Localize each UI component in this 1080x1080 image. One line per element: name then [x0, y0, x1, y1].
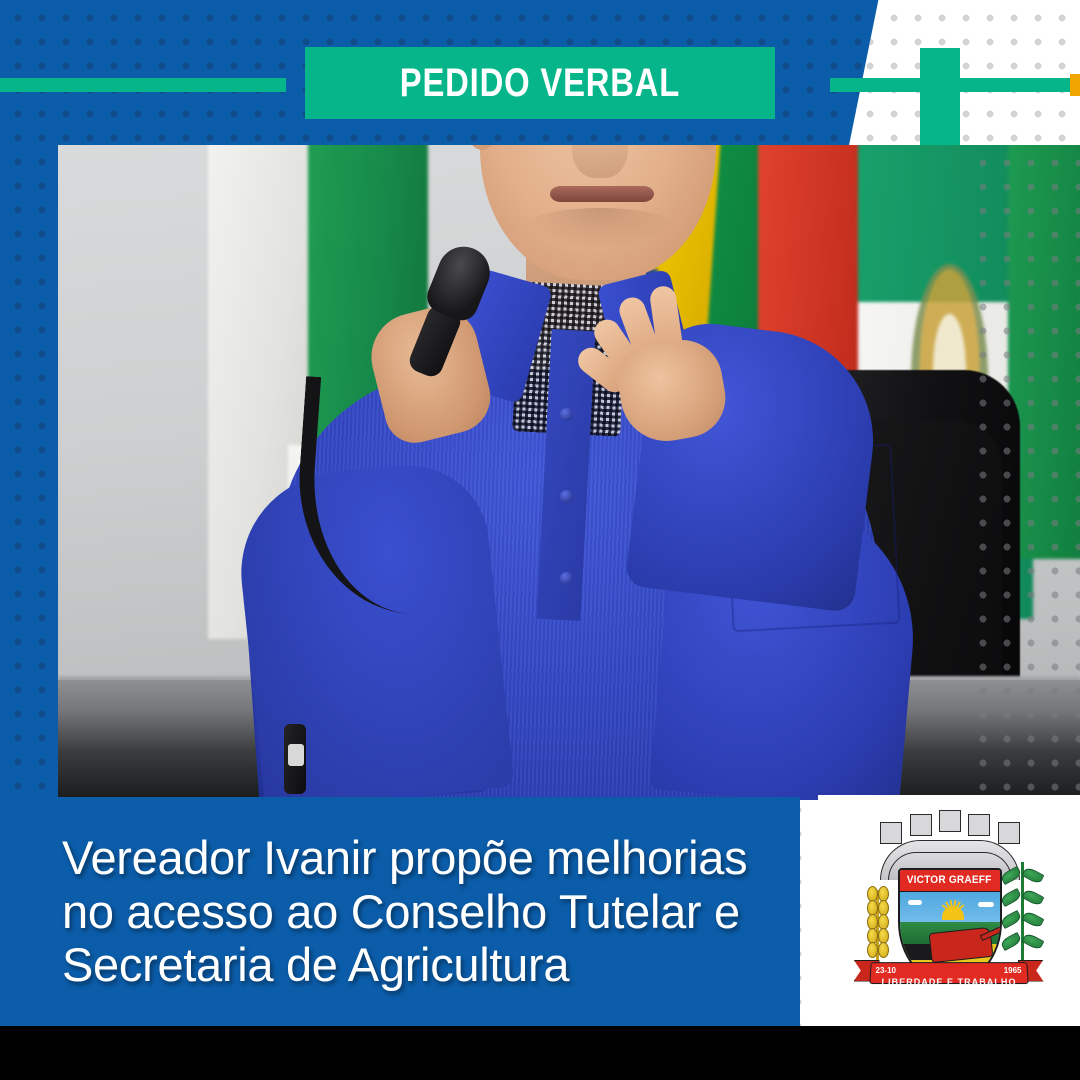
- caption-line-1: Vereador Ivanir propõe melhorias: [62, 831, 747, 885]
- microphone-base-ring: [288, 744, 304, 766]
- crest-merlon-5: [998, 822, 1020, 844]
- yellow-accent-cap: [1070, 74, 1080, 96]
- ribbon-date-label: 23-10: [876, 966, 896, 975]
- crest-merlon-2: [910, 814, 932, 836]
- caption-bar: Vereador Ivanir propõe melhorias no aces…: [0, 797, 800, 1026]
- photo-content: CÂMARA DE VEREADORES VICTOR GRAEFF - RS: [58, 145, 1080, 800]
- crest-merlon-3: [939, 810, 961, 832]
- crest-merlon-4: [968, 814, 990, 836]
- crest-crown-wall: [880, 822, 1020, 868]
- crest-name-label: VICTOR GRAEFF: [907, 874, 992, 886]
- photo-frame: CÂMARA DE VEREADORES VICTOR GRAEFF - RS: [58, 145, 1080, 800]
- crest-ribbon: LIBERDADE E TRABALHO 23-10 1965: [854, 958, 1044, 998]
- category-badge-label: PEDIDO VERBAL: [400, 61, 680, 106]
- shirt-button-1: [560, 408, 573, 421]
- crest-cloud-2: [978, 902, 994, 907]
- shirt-button-3: [560, 572, 573, 585]
- green-rule-right: [830, 78, 1072, 92]
- crest-name-band: VICTOR GRAEFF: [900, 870, 1000, 892]
- coat-of-arms-icon: VICTOR GRAEFF: [852, 816, 1047, 1006]
- caption-line-3: Secretaria de Agricultura: [62, 938, 747, 992]
- ribbon-motto-label: LIBERDADE E TRABALHO: [870, 976, 1028, 986]
- crest-merlon-1: [880, 822, 902, 844]
- subject-councilman: CÂMARA DE VEREADORES VICTOR GRAEFF - RS: [258, 180, 898, 800]
- subject-hand-raised: [602, 290, 730, 440]
- poster: PEDIDO VERBAL: [0, 0, 1080, 1080]
- logo-panel: VICTOR GRAEFF: [818, 795, 1080, 1026]
- caption-headline: Vereador Ivanir propõe melhorias no aces…: [0, 831, 781, 992]
- shirt-button-2: [560, 490, 573, 503]
- palm: [612, 334, 731, 449]
- category-badge: PEDIDO VERBAL: [305, 47, 775, 119]
- bottom-black-bar: [0, 1026, 1080, 1080]
- crest-cloud-1: [908, 900, 922, 905]
- caption-line-2: no acesso ao Conselho Tutelar e: [62, 885, 747, 939]
- subject-chin-shadow: [520, 208, 680, 250]
- ribbon-year-label: 1965: [1004, 966, 1022, 975]
- green-rule-left: [0, 78, 286, 92]
- subject-mouth: [550, 186, 654, 202]
